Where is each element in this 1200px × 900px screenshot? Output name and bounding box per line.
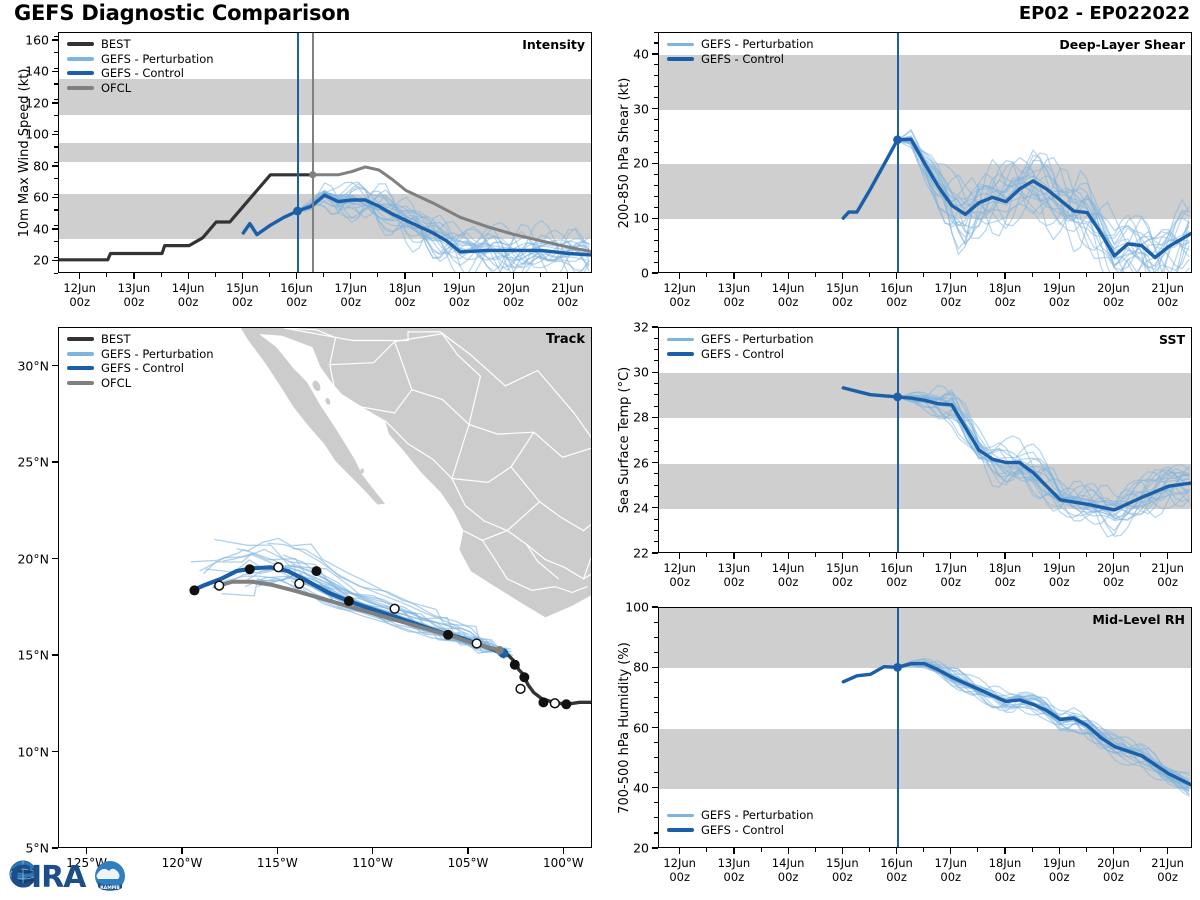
x-tick-minor — [1032, 848, 1033, 852]
x-tick-day: 13Jun — [118, 281, 151, 295]
x-tick-minor — [706, 553, 707, 557]
x-tick-day: 18Jun — [989, 281, 1022, 295]
legend-swatch-control — [67, 366, 94, 370]
x-tick-label: 20Jun00z — [1097, 856, 1130, 884]
y-tick-label: 20 — [600, 841, 649, 856]
x-tick-day: 18Jun — [989, 856, 1022, 870]
y-tick-minor — [654, 622, 658, 623]
legend-entry-ofcl: OFCL — [67, 81, 214, 96]
x-tick-hour: 00z — [669, 295, 690, 309]
x-tick-day: 19Jun — [1043, 281, 1076, 295]
y-tick — [52, 71, 58, 72]
x-tick-label: 19Jun00z — [1043, 856, 1076, 884]
lon-tick — [372, 848, 373, 854]
x-tick — [788, 848, 789, 854]
x-tick-hour: 00z — [886, 575, 907, 589]
y-tick-minor — [654, 530, 658, 531]
legend-label-perturbation: GEFS - Perturbation — [701, 37, 814, 52]
x-tick-label: 19Jun00z — [1043, 561, 1076, 589]
panel-intensity: IntensityBESTGEFS - PerturbationGEFS - C… — [0, 26, 600, 321]
x-tick — [733, 273, 734, 279]
svg-text:CIRA: CIRA — [10, 860, 87, 895]
init-time-line — [312, 33, 314, 272]
y-tick-minor — [654, 817, 658, 818]
x-tick-label: 14Jun00z — [772, 281, 805, 309]
ensemble-members — [898, 130, 1189, 273]
x-tick-day: 20Jun — [1097, 281, 1130, 295]
y-tick-minor — [654, 174, 658, 175]
legend-swatch-best — [67, 42, 94, 46]
x-tick-minor — [269, 273, 270, 277]
lon-tick — [277, 848, 278, 854]
x-tick-day: 16Jun — [880, 856, 913, 870]
y-axis-label-sst: Sea Surface Temp (°C) — [617, 367, 632, 514]
y-tick-minor — [654, 772, 658, 773]
x-tick-hour: 00z — [832, 295, 853, 309]
x-tick-label: 15Jun00z — [226, 281, 259, 309]
legend-entry-ofcl: OFCL — [67, 376, 214, 391]
x-tick-hour: 00z — [886, 295, 907, 309]
x-tick-day: 18Jun — [989, 561, 1022, 575]
lon-tick — [467, 848, 468, 854]
y-tick-minor — [654, 240, 658, 241]
y-tick — [652, 108, 658, 109]
x-tick — [950, 553, 951, 559]
y-tick — [52, 197, 58, 198]
legend-entry-control: GEFS - Control — [667, 823, 814, 838]
track-marker-12z — [550, 699, 559, 708]
y-tick-label: 100 — [600, 600, 649, 615]
x-tick-hour: 00z — [286, 295, 307, 309]
x-tick-hour: 00z — [178, 295, 199, 309]
y-tick-minor — [654, 757, 658, 758]
x-tick-label: 20Jun00z — [1097, 561, 1130, 589]
track-marker-00z — [311, 566, 321, 576]
x-tick-day: 16Jun — [280, 281, 313, 295]
x-tick-hour: 00z — [886, 870, 907, 884]
y-tick-minor — [654, 451, 658, 452]
x-tick-day: 19Jun — [1043, 561, 1076, 575]
track-marker-12z — [295, 579, 304, 588]
init-time-line — [897, 33, 899, 272]
x-tick-day: 13Jun — [718, 856, 751, 870]
x-tick-minor — [1086, 273, 1087, 277]
x-tick-hour: 00z — [832, 575, 853, 589]
y-tick-minor — [654, 75, 658, 76]
x-tick-day: 21Jun — [551, 281, 584, 295]
init-time-line — [897, 328, 899, 552]
lon-tick — [563, 848, 564, 854]
y-axis-label-rh: 700-500 hPa Humidity (%) — [617, 642, 632, 814]
x-tick — [950, 273, 951, 279]
x-tick-hour: 00z — [1049, 295, 1070, 309]
x-tick-minor — [1032, 553, 1033, 557]
x-tick-label: 16Jun00z — [880, 561, 913, 589]
y-tick-minor — [654, 360, 658, 361]
y-tick-minor — [54, 273, 58, 274]
y-tick-minor — [54, 146, 58, 147]
x-tick — [1059, 273, 1060, 279]
x-tick-label: 14Jun00z — [172, 281, 205, 309]
x-tick — [1113, 553, 1114, 559]
x-tick-label: 18Jun00z — [989, 561, 1022, 589]
x-tick-day: 21Jun — [1151, 281, 1184, 295]
x-tick-label: 19Jun00z — [443, 281, 476, 309]
legend-swatch-perturbation — [667, 814, 694, 817]
x-tick-day: 12Jun — [663, 281, 696, 295]
legend-label-ofcl: OFCL — [101, 376, 131, 391]
x-tick-day: 21Jun — [1151, 561, 1184, 575]
x-tick-minor — [1086, 848, 1087, 852]
y-tick-minor — [654, 440, 658, 441]
x-tick-label: 13Jun00z — [118, 281, 151, 309]
x-tick-label: 20Jun00z — [497, 281, 530, 309]
x-tick-hour: 00z — [124, 295, 145, 309]
x-tick-hour: 00z — [1103, 870, 1124, 884]
x-tick-label: 16Jun00z — [880, 856, 913, 884]
x-tick-hour: 00z — [1157, 870, 1178, 884]
x-tick-label: 12Jun00z — [663, 281, 696, 309]
y-tick-minor — [54, 52, 58, 53]
x-tick-hour: 00z — [1103, 575, 1124, 589]
y-tick — [652, 272, 658, 273]
x-tick — [1113, 848, 1114, 854]
legend-swatch-ofcl — [67, 86, 94, 90]
x-tick — [679, 553, 680, 559]
y-tick — [652, 326, 658, 327]
legend-shear: GEFS - PerturbationGEFS - Control — [667, 37, 814, 66]
x-tick-day: 20Jun — [1097, 856, 1130, 870]
y-tick — [652, 163, 658, 164]
panel-shear: Deep-Layer ShearGEFS - PerturbationGEFS … — [600, 26, 1200, 321]
x-tick-day: 20Jun — [1097, 561, 1130, 575]
legend-label-control: GEFS - Control — [701, 823, 784, 838]
track-marker-12z — [516, 684, 525, 693]
y-tick-label: 0 — [600, 266, 649, 281]
y-tick-minor — [54, 115, 58, 116]
x-tick-minor — [106, 273, 107, 277]
y-tick-minor — [54, 241, 58, 242]
legend-label-perturbation: GEFS - Perturbation — [701, 808, 814, 823]
x-tick-label: 21Jun00z — [1151, 281, 1184, 309]
x-tick-minor — [432, 273, 433, 277]
y-tick-minor — [654, 32, 658, 33]
x-tick-hour: 00z — [724, 295, 745, 309]
legend-entry-best: BEST — [67, 332, 214, 347]
legend-label-control: GEFS - Control — [101, 361, 184, 376]
legend-swatch-best — [67, 337, 94, 341]
x-tick — [459, 273, 460, 279]
legend-label-perturbation: GEFS - Perturbation — [701, 332, 814, 347]
x-tick-minor — [923, 848, 924, 852]
y-tick-minor — [654, 406, 658, 407]
x-tick-minor — [486, 273, 487, 277]
track-marker-00z — [344, 596, 354, 606]
x-tick-label: 14Jun00z — [772, 561, 805, 589]
y-tick-label: 20 — [0, 253, 49, 268]
x-tick-minor — [1032, 273, 1033, 277]
panel-title-sst: SST — [1159, 332, 1185, 347]
x-tick — [133, 273, 134, 279]
x-tick — [567, 273, 568, 279]
rammb-badge-text: RAMMB — [100, 885, 120, 891]
y-tick — [652, 53, 658, 54]
y-tick-minor — [654, 196, 658, 197]
lat-tick-label: 10°N — [0, 744, 49, 759]
x-tick-hour: 00z — [940, 575, 961, 589]
y-tick-minor — [654, 97, 658, 98]
x-tick-minor — [1140, 553, 1141, 557]
y-tick-minor — [654, 42, 658, 43]
x-tick — [896, 553, 897, 559]
legend-label-control: GEFS - Control — [701, 52, 784, 67]
lat-tick-label: 25°N — [0, 455, 49, 470]
x-tick-minor — [1086, 553, 1087, 557]
x-tick-minor — [869, 273, 870, 277]
x-tick — [404, 273, 405, 279]
track-marker-00z — [510, 660, 520, 670]
panel-track: TrackBESTGEFS - PerturbationGEFS - Contr… — [0, 321, 600, 896]
y-tick-minor — [654, 262, 658, 263]
y-tick-minor — [654, 383, 658, 384]
x-tick-day: 15Jun — [826, 281, 859, 295]
x-tick-minor — [869, 848, 870, 852]
legend-swatch-ofcl — [67, 381, 94, 385]
lon-tick-label: 100°W — [543, 856, 584, 870]
y-tick — [652, 507, 658, 508]
y-tick-label: 22 — [600, 546, 649, 561]
x-tick-label: 15Jun00z — [826, 561, 859, 589]
x-tick — [1004, 273, 1005, 279]
x-tick-day: 16Jun — [880, 561, 913, 575]
legend-entry-control: GEFS - Control — [667, 52, 814, 67]
legend-swatch-perturbation — [67, 352, 94, 355]
x-tick-day: 13Jun — [718, 281, 751, 295]
x-tick-label: 18Jun00z — [989, 856, 1022, 884]
x-tick — [788, 553, 789, 559]
init-time-line — [897, 608, 899, 847]
x-tick-hour: 00z — [1157, 295, 1178, 309]
x-tick — [679, 273, 680, 279]
legend-entry-perturbation: GEFS - Perturbation — [67, 52, 214, 67]
page-header: GEFS Diagnostic Comparison EP02 - EP0220… — [0, 0, 1200, 26]
x-tick-label: 21Jun00z — [551, 281, 584, 309]
panel-title-track: Track — [546, 332, 585, 347]
x-tick-day: 12Jun — [663, 561, 696, 575]
y-tick-label: 160 — [0, 32, 49, 47]
x-tick-hour: 00z — [778, 575, 799, 589]
panel-title-rh: Mid-Level RH — [1092, 612, 1185, 627]
y-tick-minor — [54, 178, 58, 179]
x-tick-minor — [761, 848, 762, 852]
x-tick-hour: 00z — [669, 575, 690, 589]
track-marker-12z — [390, 604, 399, 613]
legend-label-control: GEFS - Control — [101, 66, 184, 81]
y-tick-minor — [654, 712, 658, 713]
x-tick — [513, 273, 514, 279]
x-tick-hour: 00z — [340, 295, 361, 309]
x-tick-label: 17Jun00z — [934, 561, 967, 589]
x-tick-hour: 00z — [232, 295, 253, 309]
x-tick-hour: 00z — [995, 575, 1016, 589]
x-tick-minor — [761, 553, 762, 557]
x-tick-hour: 00z — [995, 295, 1016, 309]
y-tick — [652, 462, 658, 463]
x-tick-label: 12Jun00z — [663, 856, 696, 884]
y-tick — [52, 260, 58, 261]
y-tick-minor — [654, 485, 658, 486]
track-line — [503, 652, 591, 704]
y-tick — [52, 228, 58, 229]
y-tick-minor — [654, 64, 658, 65]
x-tick-label: 12Jun00z — [63, 281, 96, 309]
track-marker-00z — [519, 672, 529, 682]
x-tick — [1167, 273, 1168, 279]
x-tick-day: 17Jun — [934, 281, 967, 295]
x-tick-label: 19Jun00z — [1043, 281, 1076, 309]
x-tick — [896, 848, 897, 854]
x-tick-label: 17Jun00z — [334, 281, 367, 309]
y-tick-minor — [54, 36, 58, 37]
x-tick-label: 13Jun00z — [718, 281, 751, 309]
y-tick-minor — [654, 682, 658, 683]
x-tick — [350, 273, 351, 279]
x-tick-minor — [215, 273, 216, 277]
x-tick-minor — [923, 273, 924, 277]
x-tick-day: 17Jun — [934, 856, 967, 870]
legend-sst: GEFS - PerturbationGEFS - Control — [667, 332, 814, 361]
track-marker-00z — [245, 564, 255, 574]
legend-entry-perturbation: GEFS - Perturbation — [667, 37, 814, 52]
x-tick — [842, 273, 843, 279]
y-tick — [52, 134, 58, 135]
y-tick-minor — [654, 473, 658, 474]
x-tick-label: 16Jun00z — [280, 281, 313, 309]
legend-entry-control: GEFS - Control — [667, 347, 814, 362]
y-tick-minor — [654, 86, 658, 87]
x-tick-label: 18Jun00z — [389, 281, 422, 309]
x-tick-day: 13Jun — [718, 561, 751, 575]
x-tick-label: 13Jun00z — [718, 856, 751, 884]
y-tick-minor — [654, 130, 658, 131]
x-tick-label: 12Jun00z — [663, 561, 696, 589]
x-tick — [1167, 553, 1168, 559]
x-tick-hour: 00z — [1049, 575, 1070, 589]
cira-logo: CIRA RAMMB — [2, 849, 128, 899]
lon-tick-label: 105°W — [448, 856, 489, 870]
legend-label-best: BEST — [101, 332, 130, 347]
x-tick — [896, 273, 897, 279]
y-tick-minor — [654, 742, 658, 743]
x-tick-day: 20Jun — [497, 281, 530, 295]
y-tick-label: 32 — [600, 320, 649, 335]
x-tick-hour: 00z — [940, 295, 961, 309]
ensemble-members — [298, 182, 589, 273]
x-tick-day: 14Jun — [772, 281, 805, 295]
x-tick — [1113, 273, 1114, 279]
x-tick-minor — [923, 553, 924, 557]
x-tick-minor — [977, 848, 978, 852]
x-tick-hour: 00z — [778, 295, 799, 309]
y-tick-minor — [654, 119, 658, 120]
x-tick-label: 18Jun00z — [989, 281, 1022, 309]
x-tick-minor — [1140, 848, 1141, 852]
x-tick-day: 19Jun — [443, 281, 476, 295]
x-tick-hour: 00z — [832, 870, 853, 884]
y-tick-minor — [654, 652, 658, 653]
legend-label-control: GEFS - Control — [701, 347, 784, 362]
lat-tick-label: 30°N — [0, 358, 49, 373]
legend-intensity: BESTGEFS - PerturbationGEFS - ControlOFC… — [67, 37, 214, 95]
y-tick-minor — [654, 697, 658, 698]
track-marker-00z — [443, 630, 453, 640]
legend-entry-perturbation: GEFS - Perturbation — [67, 347, 214, 362]
y-tick-minor — [54, 68, 58, 69]
legend-entry-control: GEFS - Control — [67, 66, 214, 81]
x-tick-minor — [815, 553, 816, 557]
init-time-line — [297, 33, 299, 272]
y-tick-minor — [54, 99, 58, 100]
x-tick-minor — [706, 273, 707, 277]
legend-label-perturbation: GEFS - Perturbation — [101, 52, 214, 67]
x-tick-hour: 00z — [1103, 295, 1124, 309]
lat-tick-label: 20°N — [0, 551, 49, 566]
x-tick — [733, 848, 734, 854]
ofcl-start-marker — [495, 646, 503, 654]
y-tick — [652, 667, 658, 668]
x-tick-minor — [761, 273, 762, 277]
y-tick — [652, 417, 658, 418]
panel-sst: SSTGEFS - PerturbationGEFS - Control2224… — [600, 321, 1200, 601]
x-tick-label: 14Jun00z — [772, 856, 805, 884]
x-tick-hour: 00z — [503, 295, 524, 309]
y-tick — [52, 102, 58, 103]
x-tick-day: 12Jun — [663, 856, 696, 870]
y-tick-minor — [654, 152, 658, 153]
y-tick-minor — [654, 637, 658, 638]
x-tick — [842, 848, 843, 854]
lat-tick — [52, 461, 58, 462]
legend-label-perturbation: GEFS - Perturbation — [101, 347, 214, 362]
x-tick-hour: 00z — [940, 870, 961, 884]
page-title: GEFS Diagnostic Comparison — [14, 1, 350, 25]
track-marker-00z — [189, 585, 199, 595]
y-tick-minor — [54, 131, 58, 132]
x-tick-minor — [869, 553, 870, 557]
legend-swatch-control — [67, 71, 94, 75]
lat-tick-label: 15°N — [0, 648, 49, 663]
y-tick-minor — [654, 519, 658, 520]
x-tick-minor — [815, 273, 816, 277]
x-tick-day: 15Jun — [826, 561, 859, 575]
track-marker-12z — [472, 639, 481, 648]
lon-tick — [181, 848, 182, 854]
y-tick — [652, 372, 658, 373]
x-tick-minor — [977, 553, 978, 557]
lon-tick-label: 115°W — [257, 856, 298, 870]
ensemble-members — [898, 658, 1189, 796]
panel-title-intensity: Intensity — [522, 37, 585, 52]
x-tick-label: 15Jun00z — [826, 856, 859, 884]
x-tick-day: 18Jun — [389, 281, 422, 295]
y-tick-minor — [54, 225, 58, 226]
legend-swatch-control — [667, 828, 694, 832]
legend-swatch-control — [667, 352, 694, 356]
x-tick-day: 14Jun — [772, 856, 805, 870]
x-tick-day: 16Jun — [880, 281, 913, 295]
x-tick — [1004, 553, 1005, 559]
lon-tick-label: 120°W — [162, 856, 203, 870]
